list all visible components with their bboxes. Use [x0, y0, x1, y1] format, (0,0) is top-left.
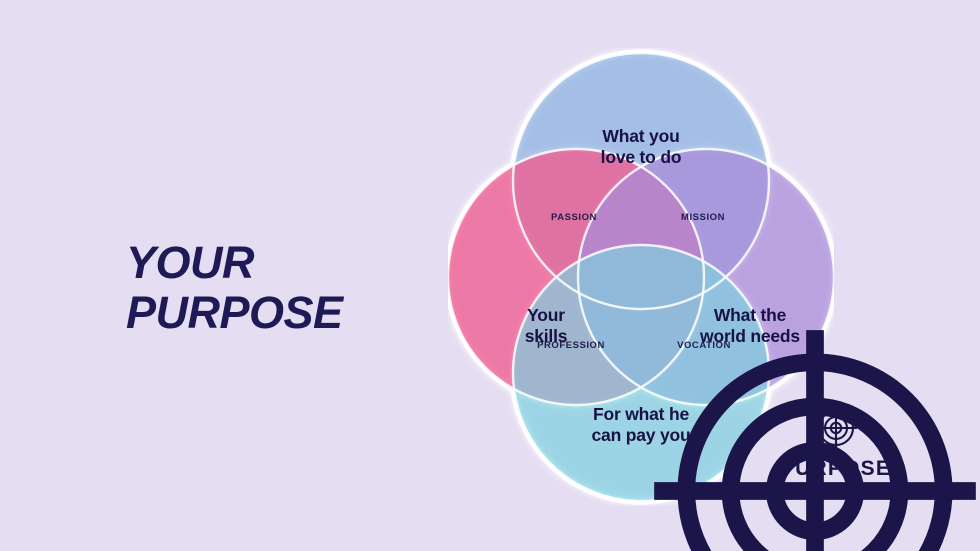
page-title: YOUR PURPOSE: [126, 238, 456, 338]
purpose-target-icon-graphic: [812, 404, 860, 452]
brand-logo-text: PURPOSE: [778, 458, 893, 480]
title-line-1: YOUR: [126, 238, 456, 288]
slide-canvas: YOUR PURPOSE: [0, 0, 980, 551]
venn-diagram: What you love to do Your skills What the…: [448, 48, 834, 506]
purpose-target-icon: [622, 262, 660, 300]
brand-logo: PURPOSE: [778, 404, 893, 480]
title-line-2: PURPOSE: [126, 288, 456, 338]
purpose-target-icon: [812, 404, 860, 452]
